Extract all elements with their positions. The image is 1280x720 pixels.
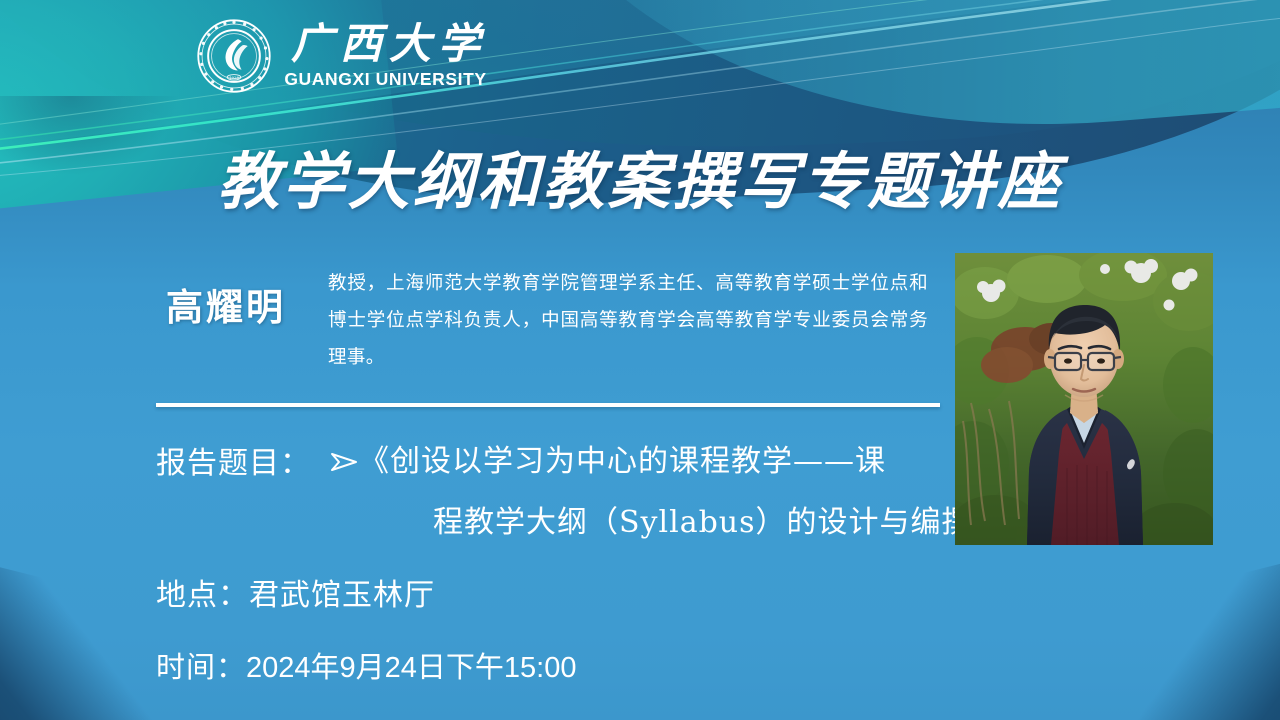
time-label: 时间： xyxy=(156,650,246,684)
time-row: 时间：2024年9月24日下午15:00 xyxy=(156,644,1004,686)
arrow-bullet-icon xyxy=(329,436,359,480)
place-label: 地点： xyxy=(156,578,249,613)
topic-text-lines: 《创设以学习为中心的课程教学——课 程教学大纲（Syllabus）的设计与编撰》 xyxy=(359,436,1004,541)
arrow-bullet-glyph xyxy=(329,452,359,472)
university-name-block: 广西大学 GUANGXI UNIVERSITY xyxy=(284,23,487,89)
topic-row: 报告题目： 《创设以学习为中心的课程教学——课 程教学大纲（Syllabus）的… xyxy=(156,436,1004,541)
topic-label: 报告题目： xyxy=(156,436,311,482)
speaker-photo xyxy=(955,253,1213,545)
topic-line-2: 程教学大纲（Syllabus）的设计与编撰》 xyxy=(359,497,1004,541)
topic-body: 《创设以学习为中心的课程教学——课 程教学大纲（Syllabus）的设计与编撰》 xyxy=(329,436,1004,541)
place-row: 地点：君武馆玉林厅 xyxy=(156,570,1004,614)
section-divider xyxy=(156,403,940,407)
guangxi-university-seal-icon: 1928 xyxy=(196,18,272,94)
speaker-bio: 教授，上海师范大学教育学院管理学系主任、高等教育学硕士学位点和博士学位点学科负责… xyxy=(328,265,928,376)
university-logo: 1928 广西大学 GUANGXI UNIVERSITY xyxy=(196,18,487,94)
topic-line-1: 《创设以学习为中心的课程教学——课 xyxy=(359,436,1004,480)
speaker-portrait-image xyxy=(955,253,1213,545)
lecture-details: 报告题目： 《创设以学习为中心的课程教学——课 程教学大纲（Syllabus）的… xyxy=(156,436,1004,686)
place-value: 君武馆玉林厅 xyxy=(249,578,435,613)
lecture-poster-slide: 1928 广西大学 GUANGXI UNIVERSITY 教学大纲和教案撰写专题… xyxy=(0,0,1280,720)
poster-title: 教学大纲和教案撰写专题讲座 xyxy=(0,131,1280,221)
speaker-name: 高耀明 xyxy=(166,277,286,331)
university-name-cn: 广西大学 xyxy=(284,23,487,65)
university-name-en: GUANGXI UNIVERSITY xyxy=(284,71,486,89)
time-value: 2024年9月24日下午15:00 xyxy=(246,652,576,684)
svg-text:1928: 1928 xyxy=(229,75,240,80)
